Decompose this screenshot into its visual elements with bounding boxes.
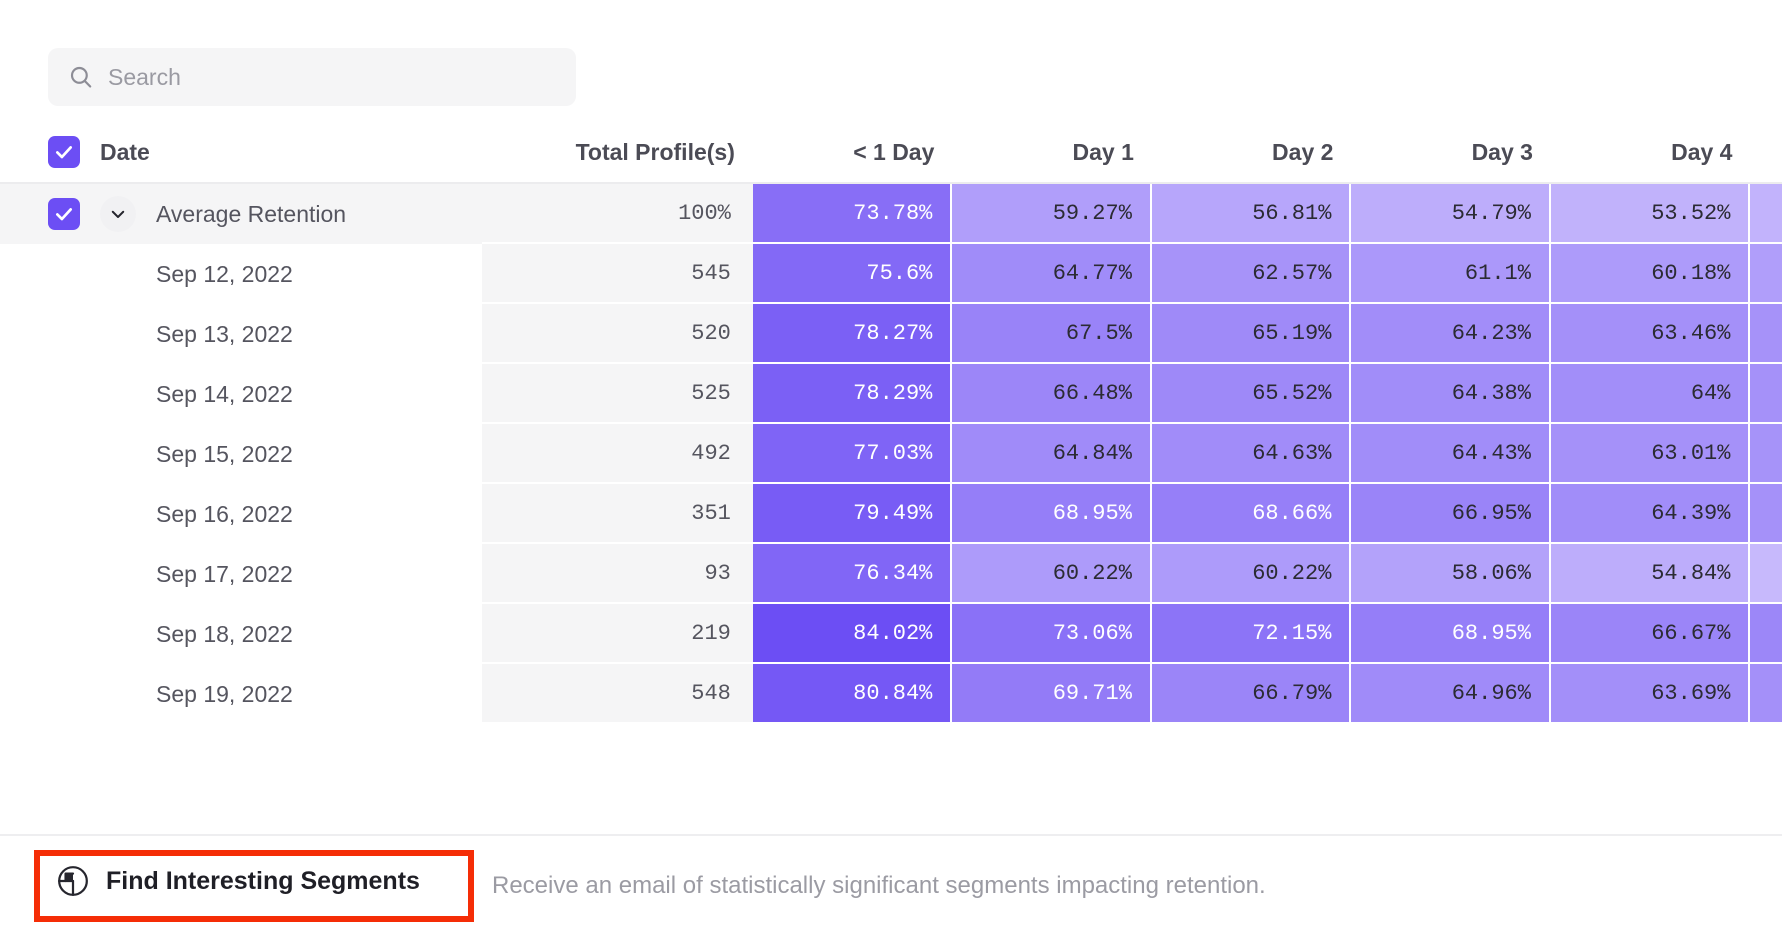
cell-retention-value: 79.49%	[753, 484, 953, 544]
cell-retention-value: 63.32%	[1750, 664, 1782, 724]
cell-date: Sep 12, 2022	[0, 244, 482, 304]
cell-retention-value: 62.57%	[1152, 244, 1352, 304]
cell-retention-value: 63.25%	[1750, 484, 1782, 544]
cell-retention-value: 69.71%	[952, 664, 1152, 724]
row-label: Sep 13, 2022	[156, 321, 293, 348]
chevron-down-icon[interactable]	[100, 196, 136, 232]
table-row[interactable]: Sep 15, 202249277.03%64.84%64.63%64.43%6…	[0, 424, 1782, 484]
cell-date: Sep 17, 2022	[0, 544, 482, 604]
cell-retention-value: 73.78%	[753, 184, 953, 244]
cell-retention-value: 59.27%	[1750, 244, 1782, 304]
retention-table-scroll-area[interactable]: Date Total Profile(s) < 1 Day Day 1 Day …	[0, 122, 1782, 812]
search-icon	[68, 64, 94, 90]
cell-date: Sep 19, 2022	[0, 664, 482, 724]
row-label: Sep 16, 2022	[156, 501, 293, 528]
cell-retention-value: 68.95%	[1351, 604, 1551, 664]
row-label: Sep 18, 2022	[156, 621, 293, 648]
check-icon	[54, 142, 74, 162]
cell-retention-value: 51.61%	[1750, 544, 1782, 604]
table-body: Average Retention100%73.78%59.27%56.81%5…	[0, 184, 1782, 724]
cell-retention-value: 53.26%	[1750, 184, 1782, 244]
row-label: Sep 14, 2022	[156, 381, 293, 408]
cell-retention-value: 68.66%	[1152, 484, 1352, 544]
column-header-date[interactable]: Date	[0, 122, 482, 184]
cell-total-profiles: 219	[482, 604, 753, 664]
cell-retention-value: 60.18%	[1551, 244, 1751, 304]
row-label: Sep 15, 2022	[156, 441, 293, 468]
row-label: Average Retention	[156, 201, 346, 228]
cell-retention-value: 54.79%	[1351, 184, 1551, 244]
cell-retention-value: 64.23%	[1351, 304, 1551, 364]
column-header-lt1day[interactable]: < 1 Day	[753, 122, 953, 184]
column-header-date-label: Date	[100, 139, 150, 166]
cell-retention-value: 59.27%	[952, 184, 1152, 244]
cell-date: Average Retention	[0, 184, 482, 244]
segments-icon	[56, 864, 90, 898]
horizontal-scrollbar-track[interactable]	[0, 812, 1782, 834]
cell-retention-value: 67.5%	[952, 304, 1152, 364]
column-header-total-profiles[interactable]: Total Profile(s)	[482, 122, 753, 184]
cell-retention-value: 60.22%	[952, 544, 1152, 604]
cell-retention-value: 84.02%	[753, 604, 953, 664]
cell-retention-value: 66.21%	[1750, 604, 1782, 664]
table-row[interactable]: Average Retention100%73.78%59.27%56.81%5…	[0, 184, 1782, 244]
cell-total-profiles: 93	[482, 544, 753, 604]
cell-retention-value: 78.29%	[753, 364, 953, 424]
row-label: Sep 17, 2022	[156, 561, 293, 588]
cell-retention-value: 72.15%	[1152, 604, 1352, 664]
column-header-day3[interactable]: Day 3	[1351, 122, 1551, 184]
cell-retention-value: 54.84%	[1551, 544, 1751, 604]
cell-retention-value: 80.84%	[753, 664, 953, 724]
retention-table-panel: Date Total Profile(s) < 1 Day Day 1 Day …	[0, 0, 1782, 930]
cell-retention-value: 66.95%	[1351, 484, 1551, 544]
cell-retention-value: 58.06%	[1351, 544, 1551, 604]
cell-retention-value: 62.69%	[1750, 304, 1782, 364]
cell-total-profiles: 492	[482, 424, 753, 484]
row-checkbox[interactable]	[48, 198, 80, 230]
cell-retention-value: 78.27%	[753, 304, 953, 364]
cell-retention-value: 73.06%	[952, 604, 1152, 664]
search-input[interactable]	[108, 48, 556, 106]
cell-total-profiles: 548	[482, 664, 753, 724]
table-row[interactable]: Sep 16, 202235179.49%68.95%68.66%66.95%6…	[0, 484, 1782, 544]
cell-retention-value: 63.69%	[1551, 664, 1751, 724]
cell-retention-value: 53.52%	[1551, 184, 1751, 244]
cell-date: Sep 14, 2022	[0, 364, 482, 424]
footer-bar: Find Interesting Segments Receive an ema…	[0, 834, 1782, 930]
cell-retention-value: 77.03%	[753, 424, 953, 484]
cell-retention-value: 64.43%	[1351, 424, 1551, 484]
find-interesting-segments-button[interactable]: Find Interesting Segments	[56, 864, 420, 898]
cell-total-profiles: 545	[482, 244, 753, 304]
cell-retention-value: 66.48%	[952, 364, 1152, 424]
cell-date: Sep 13, 2022	[0, 304, 482, 364]
find-interesting-segments-label: Find Interesting Segments	[106, 867, 420, 896]
cell-retention-value: 63.01%	[1551, 424, 1751, 484]
select-all-checkbox[interactable]	[48, 136, 80, 168]
cell-retention-value: 76.34%	[753, 544, 953, 604]
retention-table: Date Total Profile(s) < 1 Day Day 1 Day …	[0, 122, 1782, 724]
footer-description: Receive an email of statistically signif…	[492, 872, 1266, 900]
row-label: Sep 19, 2022	[156, 681, 293, 708]
cell-retention-value: 64%	[1551, 364, 1751, 424]
cell-retention-value: 64.63%	[1152, 424, 1352, 484]
table-row[interactable]: Sep 14, 202252578.29%66.48%65.52%64.38%6…	[0, 364, 1782, 424]
cell-total-profiles: 520	[482, 304, 753, 364]
cell-retention-value: 68.95%	[952, 484, 1152, 544]
cell-retention-value: 75.6%	[753, 244, 953, 304]
table-row[interactable]: Sep 19, 202254880.84%69.71%66.79%64.96%6…	[0, 664, 1782, 724]
cell-retention-value: 64.84%	[952, 424, 1152, 484]
cell-retention-value: 60.22%	[1152, 544, 1352, 604]
table-row[interactable]: Sep 13, 202252078.27%67.5%65.19%64.23%63…	[0, 304, 1782, 364]
column-header-day4[interactable]: Day 4	[1551, 122, 1751, 184]
cell-total-profiles: 100%	[482, 184, 753, 244]
cell-total-profiles: 525	[482, 364, 753, 424]
row-label: Sep 12, 2022	[156, 261, 293, 288]
cell-retention-value: 61.1%	[1351, 244, 1551, 304]
cell-retention-value: 64.77%	[952, 244, 1152, 304]
cell-total-profiles: 351	[482, 484, 753, 544]
cell-retention-value: 65.52%	[1152, 364, 1352, 424]
cell-date: Sep 18, 2022	[0, 604, 482, 664]
table-header: Date Total Profile(s) < 1 Day Day 1 Day …	[0, 122, 1782, 184]
column-header-day2[interactable]: Day 2	[1152, 122, 1352, 184]
cell-retention-value: 63.24%	[1750, 364, 1782, 424]
cell-retention-value: 66.79%	[1152, 664, 1352, 724]
header-row: Date Total Profile(s) < 1 Day Day 1 Day …	[0, 122, 1782, 184]
cell-retention-value: 64.39%	[1551, 484, 1751, 544]
table-row[interactable]: Sep 18, 202221984.02%73.06%72.15%68.95%6…	[0, 604, 1782, 664]
column-header-day5[interactable]: Day 5	[1750, 122, 1782, 184]
cell-retention-value: 65.19%	[1152, 304, 1352, 364]
column-header-day1[interactable]: Day 1	[952, 122, 1152, 184]
table-row[interactable]: Sep 12, 202254575.6%64.77%62.57%61.1%60.…	[0, 244, 1782, 304]
check-icon	[54, 204, 74, 224]
cell-retention-value: 56.81%	[1152, 184, 1352, 244]
table-row[interactable]: Sep 17, 20229376.34%60.22%60.22%58.06%54…	[0, 544, 1782, 604]
cell-retention-value: 64.96%	[1351, 664, 1551, 724]
cell-date: Sep 15, 2022	[0, 424, 482, 484]
cell-date: Sep 16, 2022	[0, 484, 482, 544]
cell-retention-value: 62.6%	[1750, 424, 1782, 484]
search-box[interactable]	[48, 48, 576, 106]
cell-retention-value: 66.67%	[1551, 604, 1751, 664]
cell-retention-value: 64.38%	[1351, 364, 1551, 424]
cell-retention-value: 63.46%	[1551, 304, 1751, 364]
